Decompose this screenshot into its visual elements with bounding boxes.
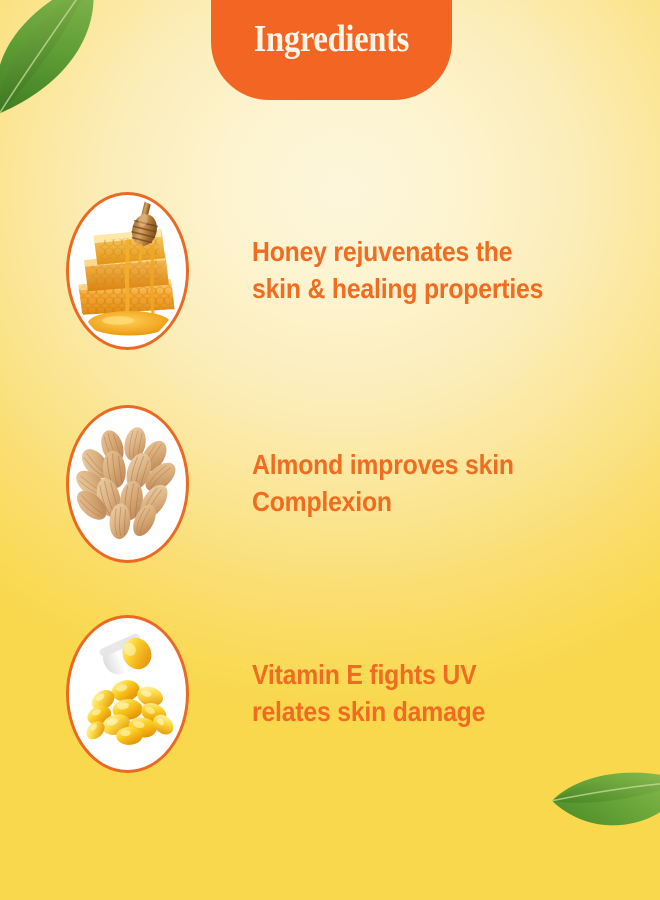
ingredient-image-almond — [66, 405, 189, 563]
page-title: Ingredients — [254, 20, 409, 58]
list-item: Honey rejuvenates the skin & healing pro… — [0, 168, 660, 373]
leaf-top-left-decoration — [0, 0, 138, 123]
ingredients-infographic-page: Ingredients — [0, 0, 660, 900]
image-oval-frame — [66, 615, 189, 773]
ingredients-list: Honey rejuvenates the skin & healing pro… — [0, 168, 660, 796]
list-item: Almond improves skin Complexion — [0, 381, 660, 586]
ingredient-description-vitamin-e: Vitamin E fights UV relates skin damage — [252, 657, 485, 730]
image-oval-frame — [66, 192, 189, 350]
ingredient-description-almond: Almond improves skin Complexion — [252, 447, 514, 520]
ingredient-description-honey: Honey rejuvenates the skin & healing pro… — [252, 234, 543, 307]
ingredient-image-vitamin-e — [66, 615, 189, 773]
green-leaf-icon — [0, 0, 138, 123]
image-oval-frame — [66, 405, 189, 563]
ingredient-image-honey — [66, 192, 189, 350]
header-banner: Ingredients — [211, 0, 452, 100]
list-item: Vitamin E fights UV relates skin damage — [0, 591, 660, 796]
almonds-pile-image — [72, 411, 183, 557]
vitamin-e-softgel-capsules-image — [72, 621, 183, 767]
honeycomb-honey-dipper-image — [72, 198, 183, 344]
